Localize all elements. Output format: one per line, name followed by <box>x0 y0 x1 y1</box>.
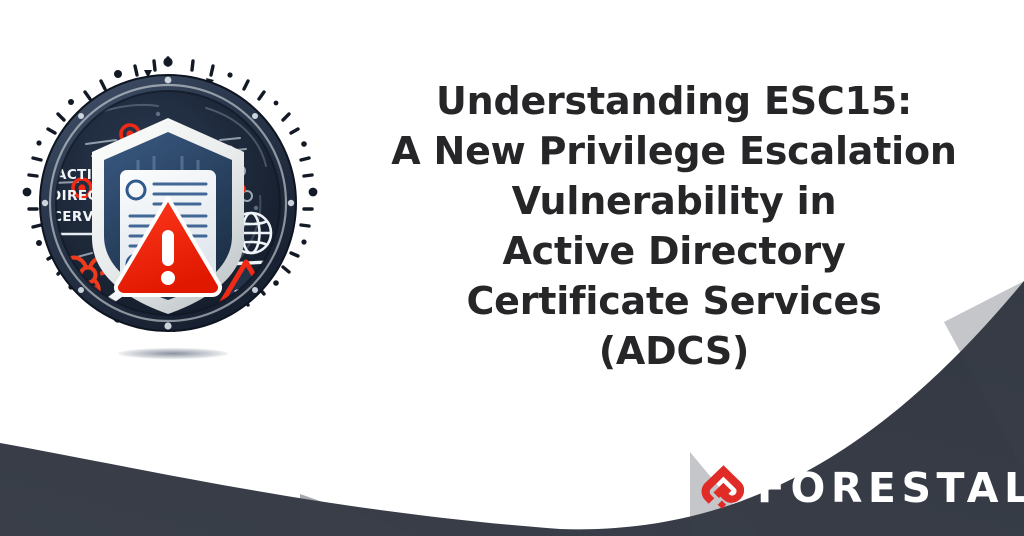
poster-title: Understanding ESC15: A New Privilege Esc… <box>330 76 1018 376</box>
adcs-security-badge: ACTIVE DIRECTORI CERVICES <box>8 48 328 378</box>
adcs-badge-graphic: ACTIVE DIRECTORI CERVICES <box>8 48 328 378</box>
title-line-1: Understanding ESC15: <box>330 76 1018 126</box>
title-line-6: (ADCS) <box>330 326 1018 376</box>
title-line-5: Certificate Services <box>330 276 1018 326</box>
shield-graphic <box>92 118 244 314</box>
badge-drop-shadow <box>118 348 228 359</box>
title-line-2: A New Privilege Escalation <box>330 126 1018 176</box>
title-line-3: Vulnerability in <box>330 176 1018 226</box>
forestall-wordmark: FORESTALL <box>757 468 1024 509</box>
forestall-logo: FORESTALL <box>700 464 1024 512</box>
poster-canvas: ACTIVE DIRECTORI CERVICES <box>0 0 1024 536</box>
forestall-leaf-mark <box>700 464 744 512</box>
title-line-4: Active Directory <box>330 226 1018 276</box>
